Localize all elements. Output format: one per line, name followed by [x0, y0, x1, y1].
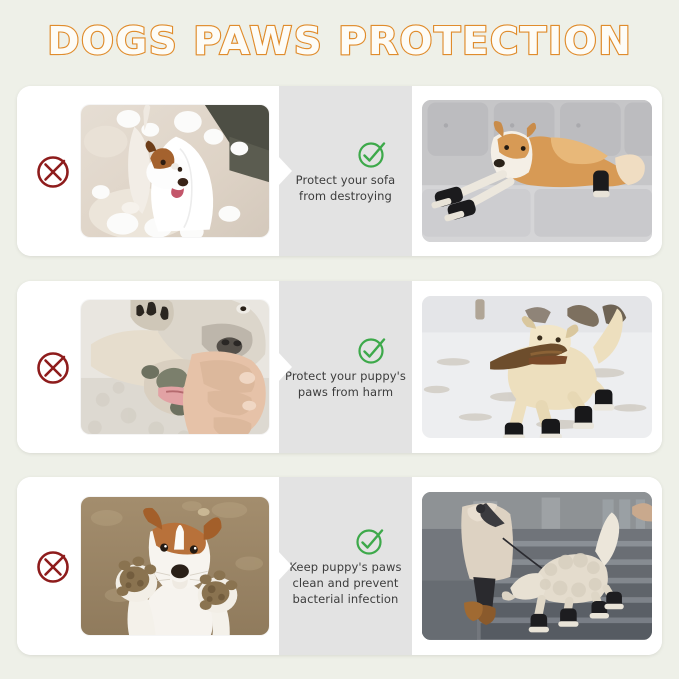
message-panel: Keep puppy's paws clean and prevent bact… — [279, 477, 412, 655]
message-text: Protect your sofa from destroying — [296, 172, 396, 205]
message-line-1: Protect your puppy's — [285, 369, 406, 383]
photo-dog-shredded-pillow — [81, 105, 269, 238]
message-line-3: bacterial infection — [293, 592, 399, 606]
message-line-2: paws from harm — [298, 385, 393, 399]
bad-state-zone — [17, 86, 279, 256]
good-state-zone — [412, 86, 662, 256]
chevron-right-icon — [278, 156, 296, 186]
message-text: Keep puppy's paws clean and prevent bact… — [289, 559, 401, 608]
good-state-zone — [412, 281, 662, 453]
circle-check-icon — [356, 138, 388, 170]
chevron-right-icon — [278, 352, 296, 382]
message-text: Protect your puppy's paws from harm — [285, 368, 406, 401]
feature-card-paws-harm: Protect your puppy's paws from harm — [17, 281, 662, 453]
circle-x-icon — [31, 543, 77, 589]
message-line-2: clean and prevent — [292, 576, 398, 590]
circle-x-icon — [31, 344, 77, 390]
feature-card-clean-paws: Keep puppy's paws clean and prevent bact… — [17, 477, 662, 655]
message-panel: Protect your sofa from destroying — [279, 86, 412, 256]
infographic-page: DOGS PAWS PROTECTION — [0, 0, 679, 679]
feature-card-sofa: Protect your sofa from destroying — [17, 86, 662, 256]
photo-lab-snow-boots — [422, 296, 652, 439]
photo-dog-boots-sofa — [422, 100, 652, 241]
bad-state-zone — [17, 281, 279, 453]
circle-x-icon — [31, 148, 77, 194]
message-line-2: from destroying — [299, 189, 392, 203]
message-line-1: Keep puppy's paws — [289, 560, 401, 574]
photo-muddy-paws — [81, 497, 269, 636]
photo-injured-paw — [81, 300, 269, 434]
message-panel: Protect your puppy's paws from harm — [279, 281, 412, 453]
circle-check-icon — [356, 334, 388, 366]
photo-poodle-stairs-boots — [422, 492, 652, 640]
chevron-right-icon — [278, 551, 296, 581]
message-line-1: Protect your sofa — [296, 173, 396, 187]
circle-check-icon — [354, 525, 386, 557]
bad-state-zone — [17, 477, 279, 655]
page-title: DOGS PAWS PROTECTION — [47, 19, 632, 63]
good-state-zone — [412, 477, 662, 655]
page-title-bar: DOGS PAWS PROTECTION — [0, 0, 679, 82]
